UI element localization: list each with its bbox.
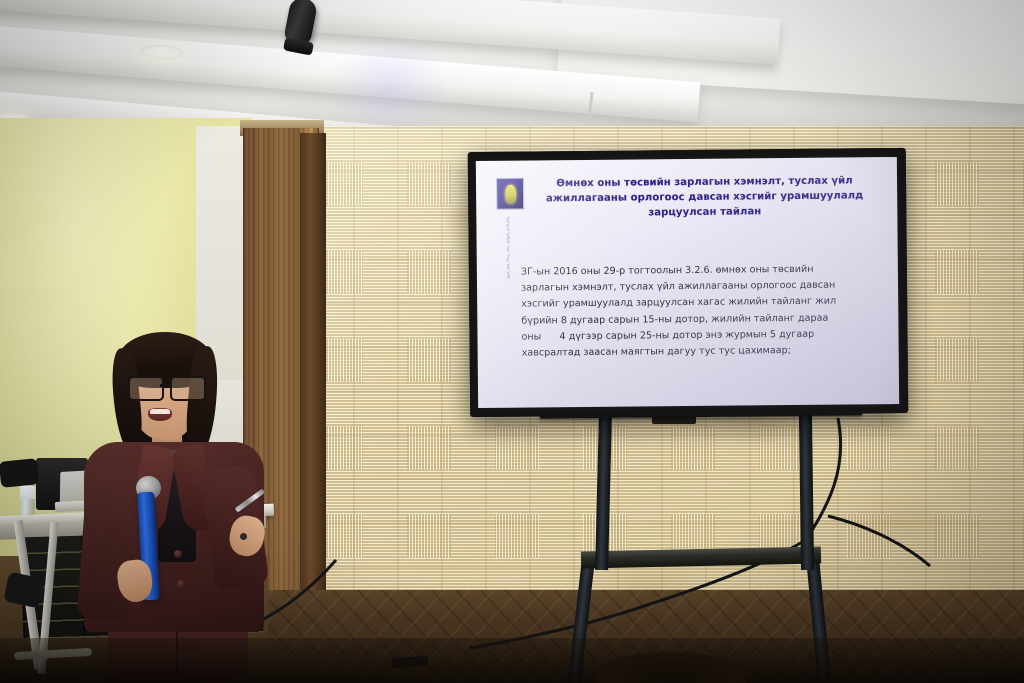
glasses-lens-right xyxy=(170,376,206,401)
flat-screen-tv: ᠮᠣᠩᠭᠣᠯ ᠤᠯᠤᠰ ᠤᠨ ᠰᠠᠩ ᠤᠨ ᠶᠠᠮᠤ Өмнөх оны төс… xyxy=(468,148,909,417)
glasses-icon xyxy=(128,376,204,398)
ring xyxy=(240,533,247,540)
presentation-photo-scene: ᠮᠣᠩᠭᠣᠯ ᠤᠯᠤᠰ ᠤᠨ ᠰᠠᠩ ᠤᠨ ᠶᠠᠮᠤ Өмнөх оны төс… xyxy=(0,0,1024,683)
stand-leg xyxy=(799,414,814,570)
tripod-head xyxy=(0,458,39,488)
slide-body-line: бүрийн 8 дугаар сарын 15-ны дотор, жилий… xyxy=(521,310,880,330)
foreground-shadow xyxy=(0,638,1024,683)
bottle-label xyxy=(20,486,35,499)
slide-title: Өмнөх оны төсвийн зарлагын хэмнэлт, тусл… xyxy=(528,173,881,221)
slide-body-line: хавсралтад заасан маягтын дагуу тус тус … xyxy=(522,342,881,362)
presenter xyxy=(78,330,278,683)
teeth xyxy=(150,409,170,414)
soyombo-glyph xyxy=(505,184,516,203)
slide-screen: ᠮᠣᠩᠭᠣᠯ ᠤᠯᠤᠰ ᠤᠨ ᠰᠠᠩ ᠤᠨ ᠶᠠᠮᠤ Өмнөх оны төс… xyxy=(476,157,899,408)
mongolian-vertical-script: ᠮᠣᠩᠭᠣᠯ ᠤᠯᠤᠰ ᠤᠨ ᠰᠠᠩ ᠤᠨ ᠶᠠᠮᠤ xyxy=(498,217,515,362)
vertical-script-text: ᠮᠣᠩᠭᠣᠯ ᠤᠯᠤᠰ ᠤᠨ ᠰᠠᠩ ᠤᠨ ᠶᠠᠮᠤ xyxy=(502,217,511,279)
slide-body-text: ЗГ-ын 2016 оны 29-р тогтоолын 3.2.6. өмн… xyxy=(521,261,881,362)
jacket-button xyxy=(177,580,185,588)
soyombo-emblem-logo xyxy=(496,178,524,210)
glasses-lens-left xyxy=(128,376,164,401)
jacket-button xyxy=(174,550,182,558)
